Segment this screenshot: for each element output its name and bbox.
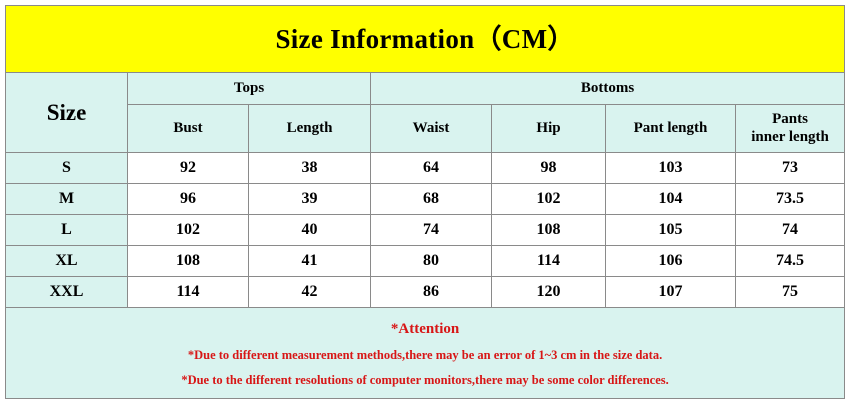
cell-hip: 114 xyxy=(492,246,606,277)
cell-length: 41 xyxy=(249,246,371,277)
attention-row: *Attention *Due to different measurement… xyxy=(6,308,845,399)
cell-length: 42 xyxy=(249,277,371,308)
cell-pants-inner-length: 74.5 xyxy=(736,246,845,277)
cell-hip: 120 xyxy=(492,277,606,308)
cell-pant-length: 104 xyxy=(606,184,736,215)
chart-title-text: Size Information（CM） xyxy=(275,26,574,53)
cell-pants-inner-length: 73 xyxy=(736,153,845,184)
cell-pant-length: 106 xyxy=(606,246,736,277)
cell-size: S xyxy=(6,153,128,184)
cell-hip: 108 xyxy=(492,215,606,246)
table-header: Size Information（CM） Size Tops Bottoms B… xyxy=(6,6,845,153)
column-group-bottoms: Bottoms xyxy=(371,73,845,105)
table-row: XXL 114 42 86 120 107 75 xyxy=(6,277,845,308)
table-body: S 92 38 64 98 103 73 M 96 39 68 102 104 … xyxy=(6,153,845,308)
cell-pant-length: 107 xyxy=(606,277,736,308)
group-header-row: Size Tops Bottoms xyxy=(6,73,845,105)
table-row: M 96 39 68 102 104 73.5 xyxy=(6,184,845,215)
column-header-size: Size xyxy=(6,73,128,153)
sub-header-row: Bust Length Waist Hip Pant length Pants … xyxy=(6,105,845,153)
cell-waist: 74 xyxy=(371,215,492,246)
column-group-tops: Tops xyxy=(128,73,371,105)
cell-hip: 102 xyxy=(492,184,606,215)
table-row: S 92 38 64 98 103 73 xyxy=(6,153,845,184)
title-row: Size Information（CM） xyxy=(6,6,845,73)
cell-size: L xyxy=(6,215,128,246)
cell-waist: 68 xyxy=(371,184,492,215)
size-information-table: Size Information（CM） Size Tops Bottoms B… xyxy=(5,5,845,399)
size-chart-sheet: Size Information（CM） Size Tops Bottoms B… xyxy=(0,0,850,403)
cell-size: M xyxy=(6,184,128,215)
cell-waist: 86 xyxy=(371,277,492,308)
cell-waist: 64 xyxy=(371,153,492,184)
cell-size: XL xyxy=(6,246,128,277)
attention-note: *Attention *Due to different measurement… xyxy=(6,308,845,399)
cell-waist: 80 xyxy=(371,246,492,277)
column-header-pant-length: Pant length xyxy=(606,105,736,153)
attention-title: *Attention xyxy=(6,322,844,337)
column-header-waist: Waist xyxy=(371,105,492,153)
pants-inner-length-line-1: Pants xyxy=(772,111,808,127)
cell-pants-inner-length: 74 xyxy=(736,215,845,246)
cell-bust: 102 xyxy=(128,215,249,246)
column-header-bust: Bust xyxy=(128,105,249,153)
column-header-hip: Hip xyxy=(492,105,606,153)
table-row: L 102 40 74 108 105 74 xyxy=(6,215,845,246)
cell-length: 40 xyxy=(249,215,371,246)
cell-hip: 98 xyxy=(492,153,606,184)
pants-inner-length-line-2: inner length xyxy=(751,129,829,145)
cell-length: 38 xyxy=(249,153,371,184)
cell-size: XXL xyxy=(6,277,128,308)
cell-pant-length: 105 xyxy=(606,215,736,246)
chart-title: Size Information（CM） xyxy=(6,6,845,73)
cell-pants-inner-length: 75 xyxy=(736,277,845,308)
cell-bust: 108 xyxy=(128,246,249,277)
table-row: XL 108 41 80 114 106 74.5 xyxy=(6,246,845,277)
attention-line-color: *Due to the different resolutions of com… xyxy=(6,374,844,387)
table-footer: *Attention *Due to different measurement… xyxy=(6,308,845,399)
cell-bust: 92 xyxy=(128,153,249,184)
attention-line-measurement: *Due to different measurement methods,th… xyxy=(6,349,844,362)
column-header-length: Length xyxy=(249,105,371,153)
column-header-pants-inner-length: Pants inner length xyxy=(736,105,845,153)
cell-pants-inner-length: 73.5 xyxy=(736,184,845,215)
cell-pant-length: 103 xyxy=(606,153,736,184)
cell-bust: 96 xyxy=(128,184,249,215)
cell-length: 39 xyxy=(249,184,371,215)
cell-bust: 114 xyxy=(128,277,249,308)
